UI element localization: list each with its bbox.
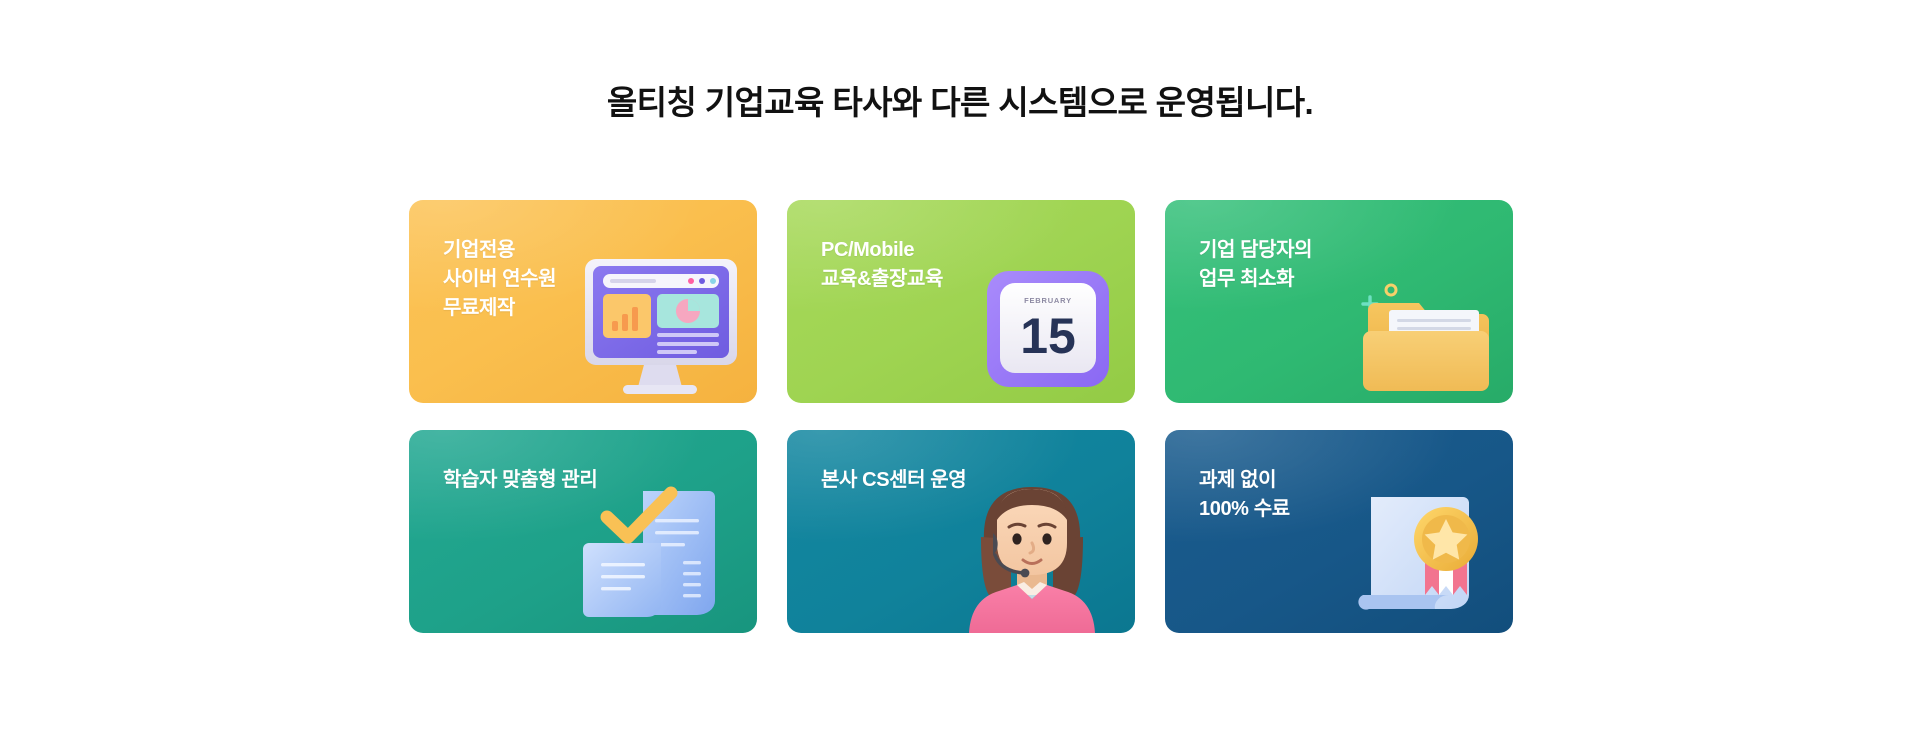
feature-card-corporate-cyber-training-center[interactable]: 기업전용 사이버 연수원 무료제작 (409, 200, 757, 403)
feature-card-grid: 기업전용 사이버 연수원 무료제작 (409, 200, 1513, 633)
support-agent-icon (957, 477, 1107, 633)
card-title: 본사 CS센터 운영 (821, 466, 1135, 495)
card-title: PC/Mobile 교육&출장교육 (821, 236, 1135, 294)
page-title: 올티칭 기업교육 타사와 다른 시스템으로 운영됩니다. (0, 76, 1920, 124)
feature-card-minimize-manager-work[interactable]: 기업 담당자의 업무 최소화 (1165, 200, 1513, 403)
card-title: 기업 담당자의 업무 최소화 (1199, 236, 1513, 294)
card-title: 과제 없이 100% 수료 (1199, 466, 1513, 524)
promo-feature-section: 올티칭 기업교육 타사와 다른 시스템으로 운영됩니다. 기업전용 사이버 연수… (0, 0, 1920, 756)
calendar-month-label: FEBRUARY (1024, 296, 1072, 305)
feature-card-learner-customized-management[interactable]: 학습자 맞춤형 관리 (409, 430, 757, 633)
feature-card-pc-mobile-education[interactable]: PC/Mobile 교육&출장교육 FEBRUARY 15 (787, 200, 1135, 403)
card-title: 학습자 맞춤형 관리 (443, 466, 757, 495)
calendar-day-label: 15 (1020, 308, 1076, 364)
checklist-check-icon (573, 483, 739, 633)
feature-card-cs-center-operation[interactable]: 본사 CS센터 운영 (787, 430, 1135, 633)
feature-card-no-assignment-completion[interactable]: 과제 없이 100% 수료 (1165, 430, 1513, 633)
card-title: 기업전용 사이버 연수원 무료제작 (443, 236, 757, 323)
